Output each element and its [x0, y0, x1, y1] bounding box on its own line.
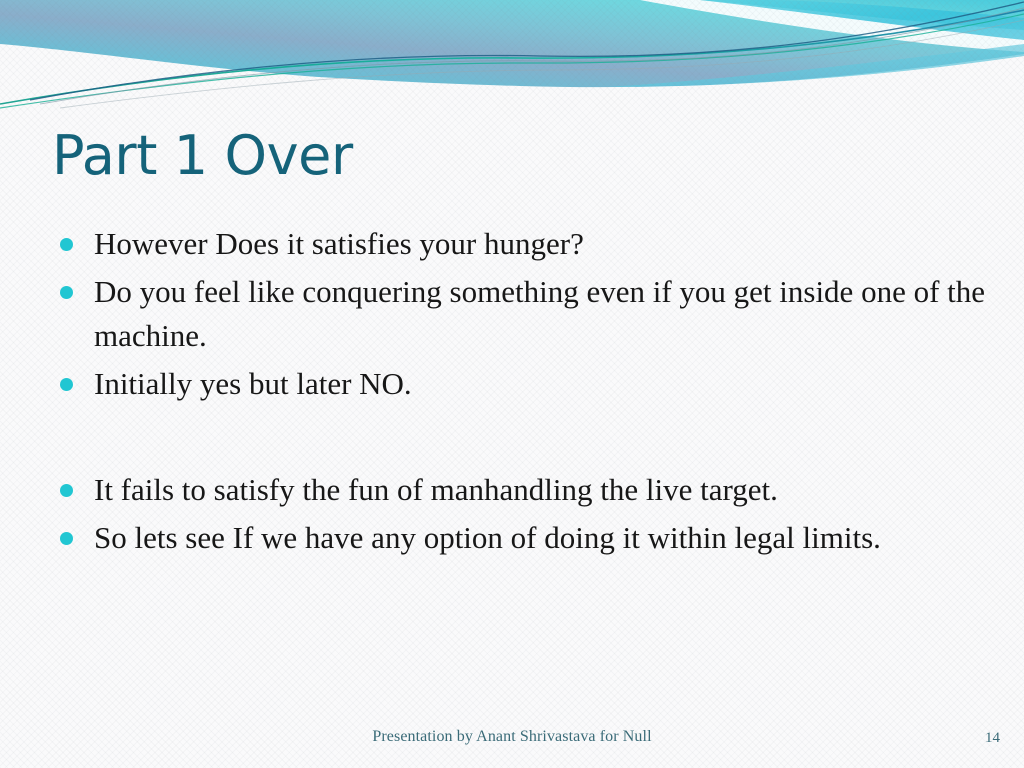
- bullet-text: However Does it satisfies your hunger?: [94, 226, 584, 261]
- bullet-text: Initially yes but later NO.: [94, 366, 412, 401]
- bullet-item: Do you feel like conquering something ev…: [56, 270, 986, 358]
- presentation-slide: Part 1 Over However Does it satisfies yo…: [0, 0, 1024, 768]
- footer-attribution: Presentation by Anant Shrivastava for Nu…: [0, 728, 1024, 746]
- bullet-item: Initially yes but later NO.: [56, 362, 986, 406]
- bullet-text: So lets see If we have any option of doi…: [94, 520, 881, 555]
- bullet-text: It fails to satisfy the fun of manhandli…: [94, 472, 778, 507]
- slide-number: 14: [985, 730, 1000, 747]
- bullet-item-spacer: [56, 410, 986, 468]
- slide-title: Part 1 Over: [52, 126, 353, 186]
- bullet-list: However Does it satisfies your hunger? D…: [56, 222, 986, 564]
- header-wave-graphic: [0, 0, 1024, 112]
- bullet-item: However Does it satisfies your hunger?: [56, 222, 986, 266]
- bullet-item: It fails to satisfy the fun of manhandli…: [56, 468, 986, 512]
- slide-footer: Presentation by Anant Shrivastava for Nu…: [0, 728, 1024, 754]
- bullet-text: Do you feel like conquering something ev…: [94, 274, 985, 353]
- bullet-item: So lets see If we have any option of doi…: [56, 516, 986, 560]
